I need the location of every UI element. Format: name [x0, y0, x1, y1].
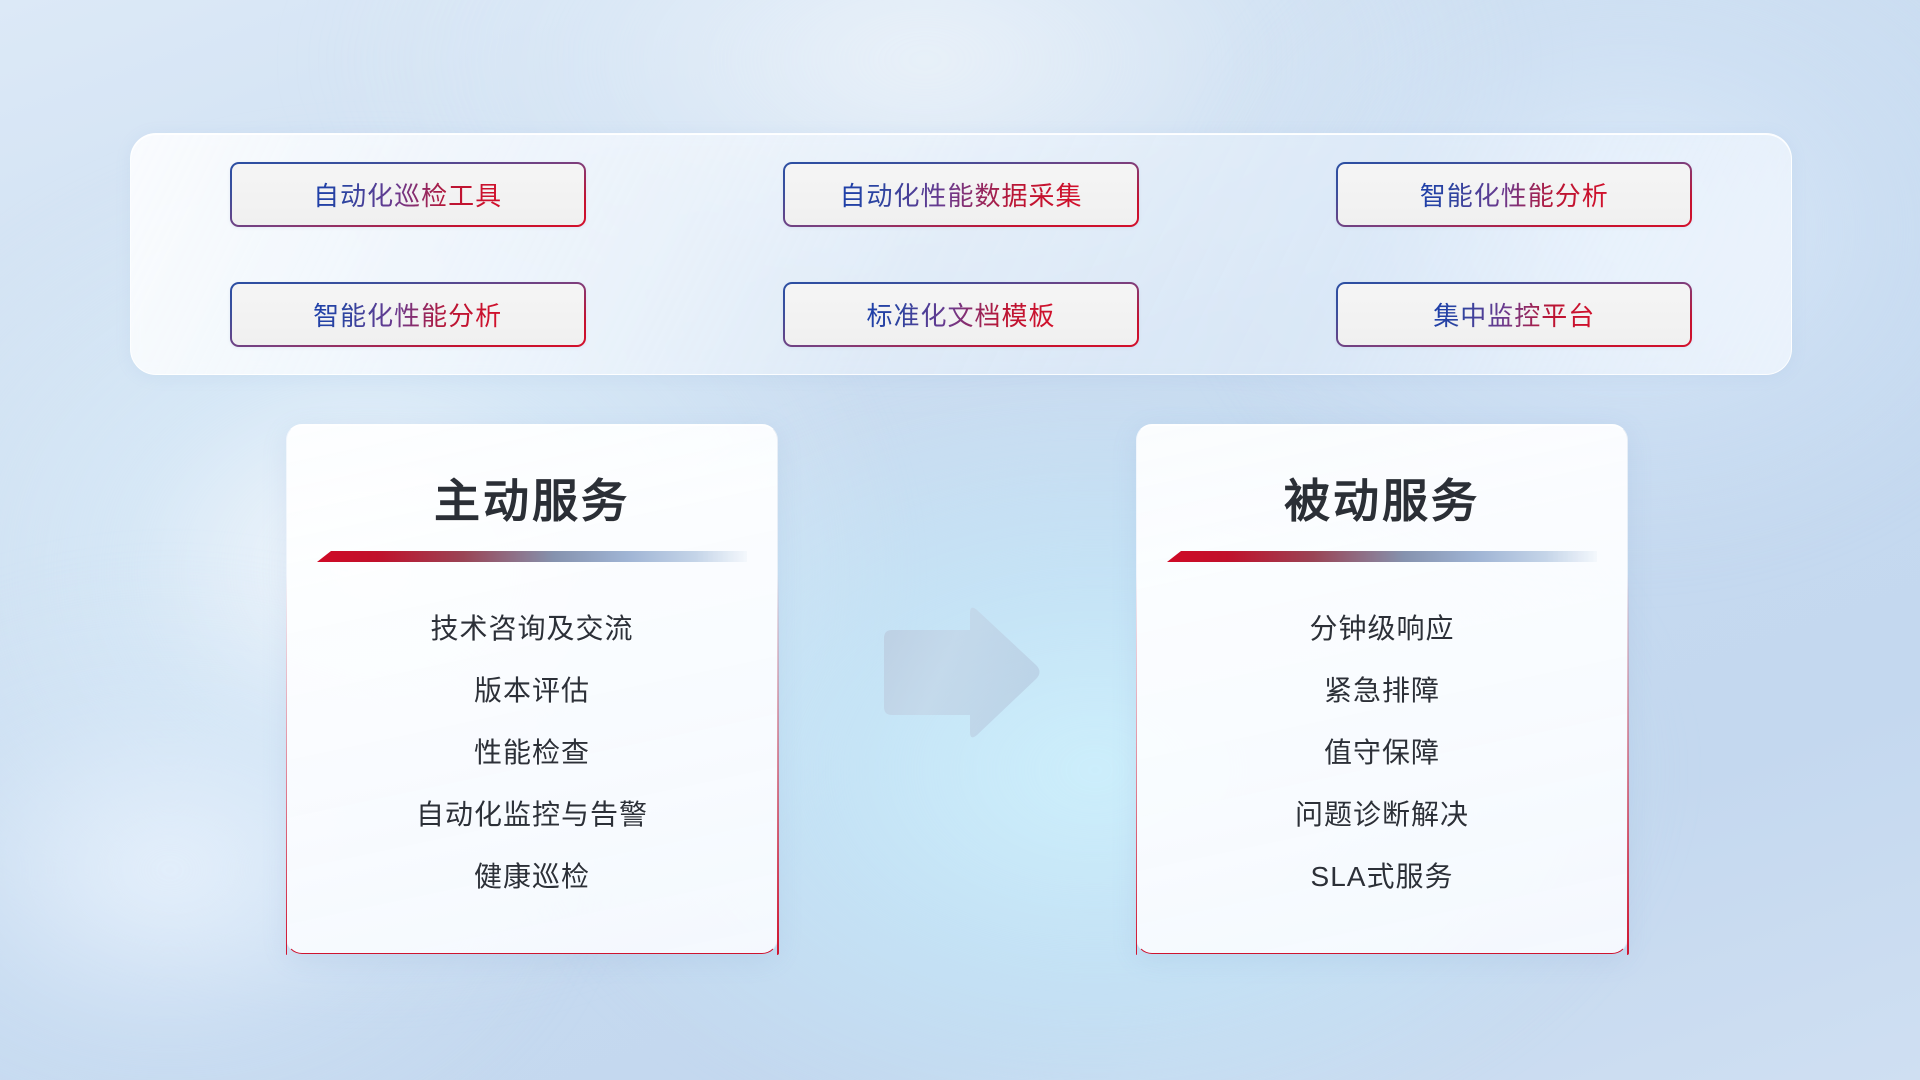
card-title-proactive: 主动服务 — [287, 425, 777, 531]
service-card-reactive: 被动服务 分钟级响应 紧急排障 值守保障 问题诊断解决 SLA式服务 — [1136, 424, 1628, 954]
capability-pill-5[interactable]: 标准化文档模板 — [783, 282, 1139, 347]
list-item: 问题诊断解决 — [1137, 784, 1627, 846]
list-item: 健康巡检 — [287, 846, 777, 908]
capability-pill-1[interactable]: 自动化巡检工具 — [230, 162, 586, 227]
service-card-proactive: 主动服务 技术咨询及交流 版本评估 性能检查 自动化监控与告警 健康巡检 — [286, 424, 778, 954]
capability-pill-label: 自动化巡检工具 — [313, 176, 502, 213]
service-list-reactive: 分钟级响应 紧急排障 值守保障 问题诊断解决 SLA式服务 — [1137, 562, 1627, 908]
list-item: 紧急排障 — [1137, 660, 1627, 722]
card-divider-reactive — [1167, 551, 1597, 562]
capability-pill-6[interactable]: 集中监控平台 — [1336, 282, 1692, 347]
divider-gradient-bar — [1167, 551, 1597, 562]
list-item: SLA式服务 — [1137, 846, 1627, 908]
divider-gradient-bar — [317, 551, 747, 562]
list-item: 技术咨询及交流 — [287, 598, 777, 660]
card-divider-proactive — [317, 551, 747, 562]
service-list-proactive: 技术咨询及交流 版本评估 性能检查 自动化监控与告警 健康巡检 — [287, 562, 777, 908]
list-item: 分钟级响应 — [1137, 598, 1627, 660]
capability-pill-grid: 自动化巡检工具 自动化性能数据采集 智能化性能分析 智能化性能分析 标准化文档模… — [131, 134, 1791, 374]
capability-pill-label: 智能化性能分析 — [1420, 176, 1609, 213]
list-item: 性能检查 — [287, 722, 777, 784]
capability-pill-label: 集中监控平台 — [1433, 296, 1595, 333]
capability-pill-3[interactable]: 智能化性能分析 — [1336, 162, 1692, 227]
capability-panel: 自动化巡检工具 自动化性能数据采集 智能化性能分析 智能化性能分析 标准化文档模… — [130, 133, 1792, 375]
list-item: 自动化监控与告警 — [287, 784, 777, 846]
capability-pill-label: 自动化性能数据采集 — [839, 176, 1082, 213]
capability-pill-label: 标准化文档模板 — [866, 296, 1055, 333]
card-title-reactive: 被动服务 — [1137, 425, 1627, 531]
arrow-right-icon — [878, 602, 1044, 744]
list-item: 版本评估 — [287, 660, 777, 722]
capability-pill-label: 智能化性能分析 — [313, 296, 502, 333]
list-item: 值守保障 — [1137, 722, 1627, 784]
capability-pill-4[interactable]: 智能化性能分析 — [230, 282, 586, 347]
slide-canvas: 自动化巡检工具 自动化性能数据采集 智能化性能分析 智能化性能分析 标准化文档模… — [0, 0, 1920, 1080]
capability-pill-2[interactable]: 自动化性能数据采集 — [783, 162, 1139, 227]
